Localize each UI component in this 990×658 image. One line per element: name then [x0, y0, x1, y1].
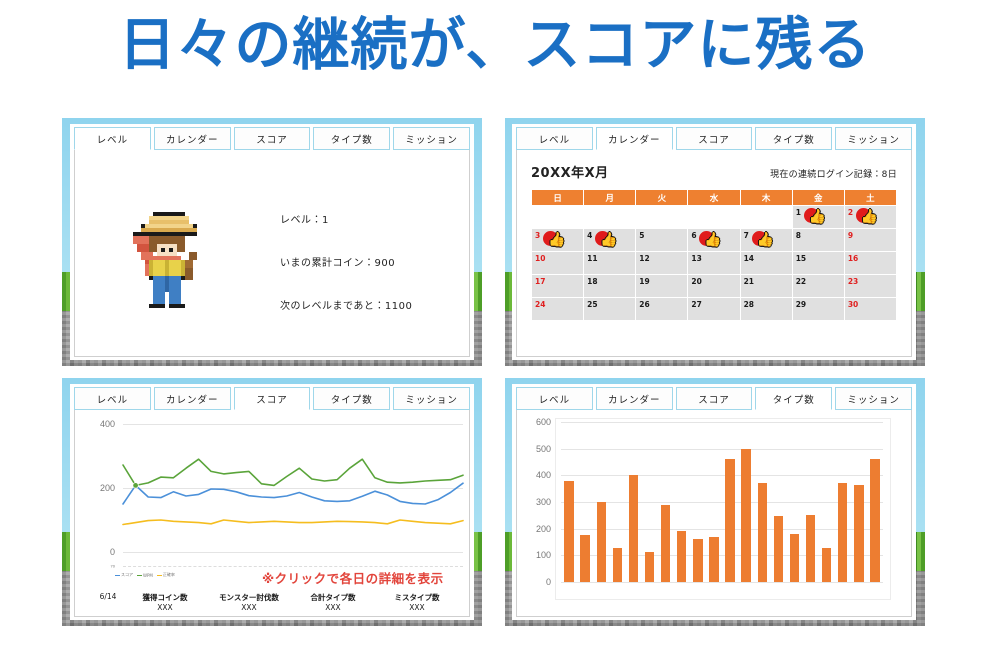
legend-item: WPM	[137, 573, 153, 578]
calendar-month-label: 20XX年X月	[531, 162, 609, 181]
calendar-day-cell[interactable]: 26	[636, 298, 688, 321]
tab-level[interactable]: レベル	[516, 127, 593, 150]
y-axis-tick-label: 600	[517, 417, 551, 427]
y-axis-tick-label: 0	[517, 577, 551, 587]
calendar-day-number: 6	[691, 231, 696, 240]
calendar-day-number: 25	[587, 300, 597, 309]
tab-score[interactable]: スコア	[676, 127, 753, 150]
tab-calendar[interactable]: カレンダー	[154, 387, 231, 410]
calendar-day-cell[interactable]: 29	[792, 298, 844, 321]
calendar-day-number: 16	[848, 254, 858, 263]
calendar-week-row: 10111213141516	[532, 252, 897, 275]
login-stamp-thumbs-up-icon: 👍	[543, 230, 563, 250]
calendar-day-number: 10	[535, 254, 545, 263]
daily-detail-table: 6/14獲得コイン数XXXモンスター討伐数XXX合計タイプ数XXXミスタイプ数X…	[93, 592, 459, 617]
calendar-week-row: 24252627282930	[532, 298, 897, 321]
level-value: レベル：1	[280, 216, 412, 226]
login-streak-label: 現在の連続ログイン記録：8日	[770, 167, 897, 180]
detail-metric: 合計タイプ数XXX	[291, 592, 375, 612]
calendar-day-number: 26	[639, 300, 649, 309]
calendar-day-number: 4	[587, 231, 592, 240]
detail-metric-value: XXX	[123, 603, 207, 612]
tab-calendar[interactable]: カレンダー	[596, 387, 673, 410]
calendar-day-cell[interactable]: 4👍	[584, 229, 636, 252]
login-stamp-thumbs-up-icon: 👍	[856, 207, 876, 227]
panel-body-level: レベル：1 いまの累計コイン：900 次のレベルまであと：1100	[74, 150, 470, 357]
calendar-day-cell[interactable]: 27	[688, 298, 740, 321]
calendar-day-cell[interactable]: 7👍	[740, 229, 792, 252]
calendar-week-row: 3👍4👍56👍7👍89	[532, 229, 897, 252]
y-axis-tick-label: 100	[517, 550, 551, 560]
calendar-day-cell[interactable]: 25	[584, 298, 636, 321]
calendar-grid[interactable]: 日月火水木金土 1👍2👍3👍4👍56👍7👍8910111213141516171…	[531, 189, 897, 321]
tab-bar-score[interactable]: レベル カレンダー スコア タイプ数 ミッション	[70, 384, 474, 410]
tab-bar-calendar[interactable]: レベル カレンダー スコア タイプ数 ミッション	[512, 124, 916, 150]
calendar-day-cell[interactable]: 20	[688, 275, 740, 298]
calendar-day-number: 3	[535, 231, 540, 240]
calendar-day-cell[interactable]: 1👍	[792, 206, 844, 229]
tab-calendar[interactable]: カレンダー	[154, 127, 231, 150]
calendar-day-cell[interactable]: 30	[844, 298, 896, 321]
tab-mission[interactable]: ミッション	[393, 127, 470, 150]
calendar-weekday-row: 日月火水木金土	[532, 190, 897, 206]
legend-item: 正確率	[157, 572, 175, 578]
tab-typecount[interactable]: タイプ数	[313, 387, 390, 410]
calendar-day-number: 28	[744, 300, 754, 309]
calendar-day-cell[interactable]: 12	[636, 252, 688, 275]
calendar-day-number: 24	[535, 300, 545, 309]
calendar-day-number: 14	[744, 254, 754, 263]
detail-metric-value: XXX	[291, 603, 375, 612]
login-stamp-thumbs-up-icon: 👍	[752, 230, 772, 250]
tab-typecount[interactable]: タイプ数	[755, 127, 832, 150]
window-score: レベル カレンダー スコア タイプ数 ミッション 020040070スコアWPM…	[70, 384, 474, 620]
detail-date-label: 6/14	[93, 592, 123, 601]
calendar-day-cell[interactable]: 22	[792, 275, 844, 298]
tab-calendar[interactable]: カレンダー	[596, 127, 673, 150]
next-level-value: 次のレベルまであと：1100	[280, 302, 412, 312]
tab-bar-typecount[interactable]: レベル カレンダー スコア タイプ数 ミッション	[512, 384, 916, 410]
calendar-week-row: 17181920212223	[532, 275, 897, 298]
detail-metric: ミスタイプ数XXX	[375, 592, 459, 612]
y-axis-tick-label: 300	[517, 497, 551, 507]
calendar-weekday-4: 木	[740, 190, 792, 206]
calendar-day-cell[interactable]: 19	[636, 275, 688, 298]
tab-level[interactable]: レベル	[516, 387, 593, 410]
calendar-day-cell[interactable]: 17	[532, 275, 584, 298]
chart-legend: スコアWPM正確率	[115, 572, 175, 578]
window-level: レベル カレンダー スコア タイプ数 ミッション	[70, 124, 474, 360]
tab-typecount[interactable]: タイプ数	[755, 387, 832, 410]
login-stamp-thumbs-up-icon: 👍	[699, 230, 719, 250]
detail-metric-label: 合計タイプ数	[291, 592, 375, 603]
panel-body-calendar: 20XX年X月 現在の連続ログイン記録：8日 日月火水木金土 1👍2👍3👍4👍5…	[516, 150, 912, 357]
tab-typecount[interactable]: タイプ数	[313, 127, 390, 150]
window-calendar: レベル カレンダー スコア タイプ数 ミッション 20XX年X月 現在の連続ログ…	[512, 124, 916, 360]
click-hint-note: ※クリックで各日の詳細を表示	[262, 568, 444, 587]
calendar-day-cell[interactable]: 5	[636, 229, 688, 252]
y-axis-tick-label: 500	[517, 444, 551, 454]
tab-mission[interactable]: ミッション	[393, 387, 470, 410]
tab-score[interactable]: スコア	[676, 387, 753, 410]
calendar-day-number: 15	[796, 254, 806, 263]
calendar-weekday-0: 日	[532, 190, 584, 206]
tab-mission[interactable]: ミッション	[835, 387, 912, 410]
calendar-day-number: 7	[744, 231, 749, 240]
tab-level[interactable]: レベル	[74, 127, 151, 150]
calendar-day-cell[interactable]: 10	[532, 252, 584, 275]
panel-body-typecount: 0100200300400500600	[516, 410, 912, 617]
calendar-day-number: 2	[848, 208, 853, 217]
window-typecount: レベル カレンダー スコア タイプ数 ミッション 010020030040050…	[512, 384, 916, 620]
detail-metric: モンスター討伐数XXX	[207, 592, 291, 612]
calendar-weekday-5: 金	[792, 190, 844, 206]
calendar-day-cell[interactable]: 24	[532, 298, 584, 321]
detail-metric-label: ミスタイプ数	[375, 592, 459, 603]
calendar-day-number: 5	[639, 231, 644, 240]
calendar-day-number: 1	[796, 208, 801, 217]
y-axis-tick-label: 400	[517, 470, 551, 480]
detail-metric-value: XXX	[375, 603, 459, 612]
calendar-day-cell[interactable]: 2👍	[844, 206, 896, 229]
calendar-day-cell[interactable]: 14	[740, 252, 792, 275]
tab-score[interactable]: スコア	[234, 127, 311, 150]
detail-metric: 獲得コイン数XXX	[123, 592, 207, 612]
x-axis-minor-label: 70	[101, 564, 115, 569]
calendar-day-number: 13	[691, 254, 701, 263]
calendar-header: 20XX年X月 現在の連続ログイン記録：8日	[517, 150, 911, 189]
calendar-weekday-1: 月	[584, 190, 636, 206]
calendar-day-number: 19	[639, 277, 649, 286]
calendar-day-cell[interactable]: 28	[740, 298, 792, 321]
calendar-day-number: 8	[796, 231, 801, 240]
login-stamp-thumbs-up-icon: 👍	[595, 230, 615, 250]
calendar-day-number: 22	[796, 277, 806, 286]
pixel-hero-character-icon	[133, 208, 205, 312]
legend-item: スコア	[115, 572, 133, 578]
calendar-day-cell[interactable]: 16	[844, 252, 896, 275]
calendar-day-number: 9	[848, 231, 853, 240]
calendar-weekday-3: 水	[688, 190, 740, 206]
calendar-day-cell[interactable]: 8	[792, 229, 844, 252]
calendar-weekday-2: 火	[636, 190, 688, 206]
calendar-day-number: 20	[691, 277, 701, 286]
calendar-weekday-6: 土	[844, 190, 896, 206]
tab-mission[interactable]: ミッション	[835, 127, 912, 150]
calendar-day-number: 30	[848, 300, 858, 309]
calendar-day-cell[interactable]: 18	[584, 275, 636, 298]
total-coins-value: いまの累計コイン：900	[280, 259, 412, 269]
calendar-day-cell[interactable]: 13	[688, 252, 740, 275]
type-count-bar-chart[interactable]: 0100200300400500600	[517, 410, 911, 616]
calendar-day-cell[interactable]: 9	[844, 229, 896, 252]
calendar-day-number: 18	[587, 277, 597, 286]
login-stamp-thumbs-up-icon: 👍	[804, 207, 824, 227]
calendar-cell-empty	[740, 206, 792, 229]
calendar-cell-empty	[688, 206, 740, 229]
calendar-cell-empty	[532, 206, 584, 229]
detail-row-1: 6/14獲得コイン数XXXモンスター討伐数XXX合計タイプ数XXXミスタイプ数X…	[93, 592, 459, 612]
calendar-day-cell[interactable]: 11	[584, 252, 636, 275]
plot-frame	[555, 418, 891, 600]
calendar-week-row: 1👍2👍	[532, 206, 897, 229]
calendar-day-cell[interactable]: 3👍	[532, 229, 584, 252]
page-title: 日々の継続が、スコアに残る	[0, 14, 990, 77]
y-axis-tick-label: 200	[517, 524, 551, 534]
level-info-text: レベル：1 いまの累計コイン：900 次のレベルまであと：1100	[280, 216, 412, 345]
calendar-day-number: 29	[796, 300, 806, 309]
tab-score[interactable]: スコア	[234, 387, 311, 410]
panel-body-score: 020040070スコアWPM正確率 ※クリックで各日の詳細を表示 6/14獲得…	[74, 410, 470, 617]
calendar-day-number: 11	[587, 254, 597, 263]
calendar-day-number: 21	[744, 277, 754, 286]
calendar-day-number: 23	[848, 277, 858, 286]
calendar-day-cell[interactable]: 21	[740, 275, 792, 298]
detail-metric-value: XXX	[207, 603, 291, 612]
calendar-day-number: 27	[691, 300, 701, 309]
calendar-cell-empty	[636, 206, 688, 229]
calendar-day-cell[interactable]: 15	[792, 252, 844, 275]
calendar-day-cell[interactable]: 6👍	[688, 229, 740, 252]
detail-metric-label: 獲得コイン数	[123, 592, 207, 603]
calendar-day-number: 17	[535, 277, 545, 286]
detail-metric-label: モンスター討伐数	[207, 592, 291, 603]
calendar-day-number: 12	[639, 254, 649, 263]
calendar-day-cell[interactable]: 23	[844, 275, 896, 298]
tab-level[interactable]: レベル	[74, 387, 151, 410]
calendar-cell-empty	[584, 206, 636, 229]
tab-bar-level[interactable]: レベル カレンダー スコア タイプ数 ミッション	[70, 124, 474, 150]
